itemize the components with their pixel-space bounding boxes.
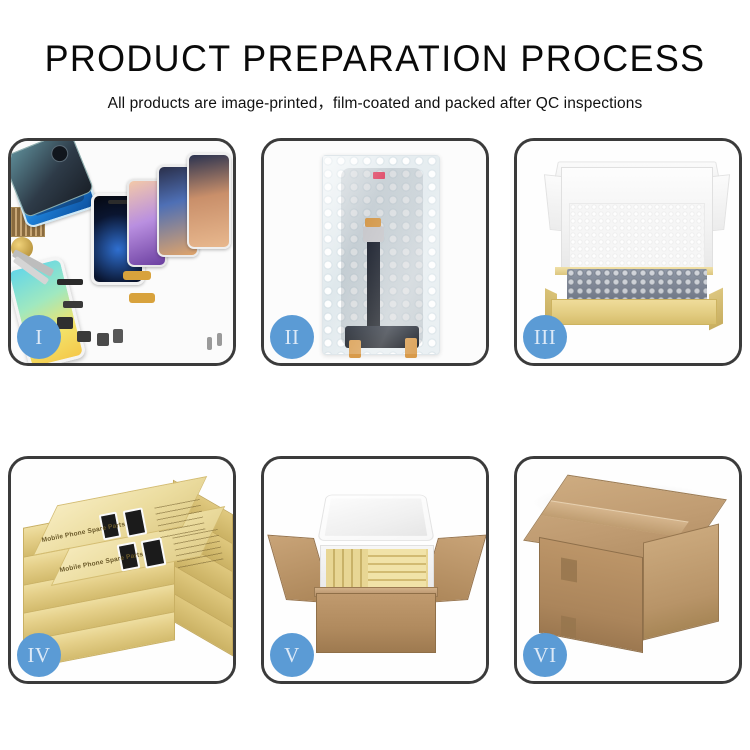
- connector-icon: [363, 226, 384, 242]
- step-badge-3: III: [523, 315, 567, 359]
- step-card-5: V: [261, 456, 489, 684]
- lcd-screen-icon: [341, 168, 423, 346]
- steps-grid: I II: [8, 138, 742, 703]
- step-badge-1: I: [17, 315, 61, 359]
- screwdriver-icon-1: [207, 337, 212, 350]
- product-preparation-infographic: PRODUCT PREPARATION PROCESS All products…: [0, 0, 750, 750]
- step-card-6: VI: [514, 456, 742, 684]
- gold-contact-icon-3: [405, 338, 417, 358]
- box-front-icon: [551, 299, 717, 325]
- carton-front-icon: [316, 593, 436, 653]
- flex-cable-icon: [367, 236, 380, 336]
- earpiece-speaker-icon: [57, 279, 83, 285]
- step-card-1: I: [8, 138, 236, 366]
- foam-sheet-icon: [569, 203, 705, 269]
- small-part-icon-4: [97, 333, 109, 346]
- phone-orange-icon: [187, 153, 231, 249]
- pink-label-icon: [373, 172, 385, 179]
- bubble-wrapped-bundle-icon: [567, 269, 707, 301]
- carton-seal-icon-1: [561, 557, 577, 582]
- step-card-2: II: [261, 138, 489, 366]
- gold-contact-icon: [365, 218, 381, 227]
- flex-cable-icon-1: [123, 271, 151, 280]
- carton-seal-icon-2: [561, 616, 576, 639]
- step-card-4: Mobile Phone Spare Parts Mobile Phone Sp…: [8, 456, 236, 684]
- step-badge-2: II: [270, 315, 314, 359]
- foam-lid-icon: [317, 495, 434, 541]
- screwdriver-icon-2: [217, 333, 222, 346]
- small-part-icon-2: [57, 317, 73, 329]
- gold-contact-icon-2: [349, 340, 361, 358]
- step-badge-4: IV: [17, 633, 61, 677]
- step-badge-5: V: [270, 633, 314, 677]
- small-part-icon-5: [113, 329, 123, 343]
- flex-cable-icon-2: [129, 293, 155, 303]
- bubble-wrap-icon: [322, 155, 440, 355]
- small-part-icon-3: [77, 331, 91, 342]
- step-badge-6: VI: [523, 633, 567, 677]
- small-part-icon-1: [63, 301, 83, 308]
- packed-boxes-icon-right: [368, 549, 426, 589]
- page-title: PRODUCT PREPARATION PROCESS: [11, 40, 739, 77]
- carton-side-face-icon: [643, 524, 719, 641]
- header: PRODUCT PREPARATION PROCESS All products…: [0, 0, 750, 113]
- page-subtitle: All products are image-printed，film-coat…: [0, 91, 750, 113]
- step-card-3: III: [514, 138, 742, 366]
